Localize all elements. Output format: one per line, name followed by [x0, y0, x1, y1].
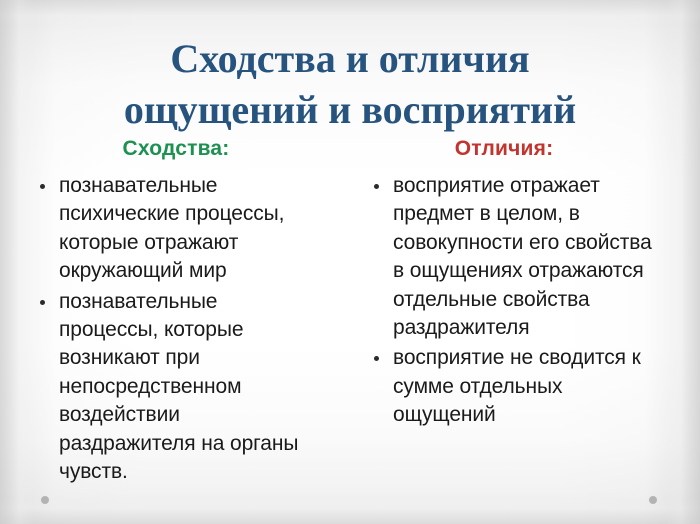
list-item: восприятие не сводится к сумме отдельных… [352, 344, 661, 429]
slide-title-line-1: Сходства и отличия [0, 33, 700, 84]
slide-title: Сходства и отличия ощущений и восприятий [0, 33, 700, 135]
similarities-column: Сходства: познавательные психические про… [18, 136, 348, 488]
differences-list: восприятие отражает предмет в целом, в с… [352, 172, 682, 430]
differences-heading: Отличия: [352, 136, 682, 162]
edge-shading-bottom [0, 498, 700, 524]
list-item: познавательные психические процессы, кот… [18, 172, 309, 286]
edge-shading-top [0, 0, 700, 26]
list-item: познавательные процессы, которые возника… [18, 288, 309, 487]
similarities-heading: Сходства: [18, 136, 348, 162]
similarities-list: познавательные психические процессы, кот… [18, 172, 348, 486]
slide-canvas: Сходства и отличия ощущений и восприятий… [0, 0, 700, 524]
bottom-right-dot-icon [649, 496, 657, 504]
differences-column: Отличия: восприятие отражает предмет в ц… [352, 136, 682, 432]
bottom-left-dot-icon [41, 496, 49, 504]
slide-title-line-2: ощущений и восприятий [0, 84, 700, 135]
list-item: восприятие отражает предмет в целом, в с… [352, 172, 661, 342]
